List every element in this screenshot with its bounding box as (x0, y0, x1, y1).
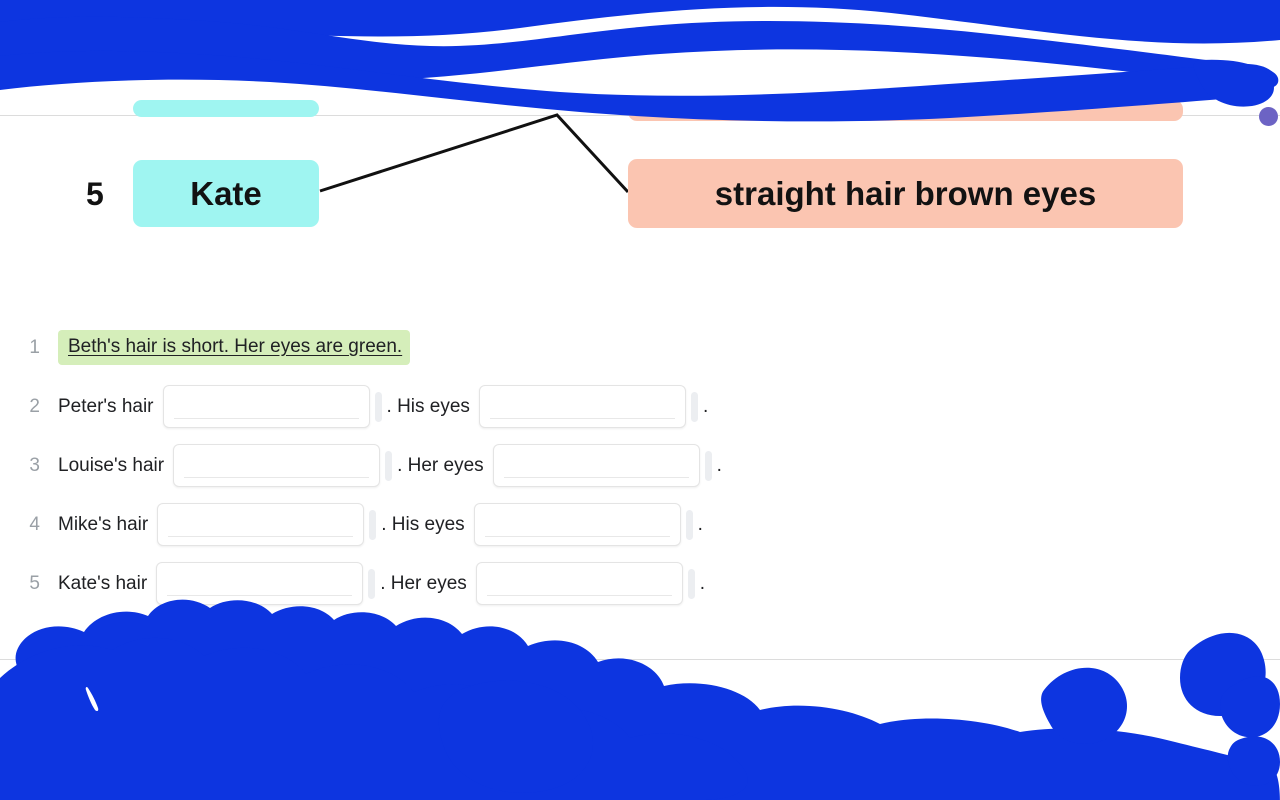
sentence-row-number: 2 (0, 397, 40, 416)
matching-chip-left-clipped[interactable] (133, 100, 319, 117)
sentence-mid-text: . His eyes (381, 515, 464, 534)
sentence-lead-text: Louise's hair (58, 456, 164, 475)
sentence-answer-highlight: Beth's hair is short. Her eyes are green… (58, 330, 410, 365)
matching-chip-right-clipped[interactable] (628, 100, 1183, 121)
hair-blank-input[interactable] (157, 563, 362, 604)
sentence-row: 3 Louise's hair . Her eyes . (0, 436, 1280, 495)
sentence-tail-text: . (717, 456, 722, 475)
resize-grip[interactable] (686, 510, 693, 540)
sentence-lead-text: Peter's hair (58, 397, 154, 416)
sentence-row-number: 5 (0, 574, 40, 593)
matching-chip-kate[interactable]: Kate (133, 160, 319, 227)
sentence-row: 4 Mike's hair . His eyes . (0, 495, 1280, 554)
resize-grip[interactable] (375, 392, 382, 422)
resize-grip[interactable] (688, 569, 695, 599)
matching-exercise: 5 Kate straight hair brown eyes (0, 100, 1280, 260)
sentence-row-number: 1 (0, 338, 40, 357)
eyes-blank-input[interactable] (475, 504, 680, 545)
matching-item-number: 5 (86, 178, 104, 210)
eyes-blank-input[interactable] (494, 445, 699, 486)
sentence-answer-text: Beth's hair is short. Her eyes are green… (68, 336, 402, 357)
sentence-lead-text: Kate's hair (58, 574, 147, 593)
sentence-row: 2 Peter's hair . His eyes . (0, 377, 1280, 436)
hair-blank-input[interactable] (158, 504, 363, 545)
sentence-exercise: 1 Beth's hair is short. Her eyes are gre… (0, 318, 1280, 613)
eyes-blank-input-wrapper[interactable] (479, 385, 686, 428)
hair-blank-input-wrapper[interactable] (157, 503, 364, 546)
resize-grip[interactable] (705, 451, 712, 481)
sentence-tail-text: . (698, 515, 703, 534)
resize-grip[interactable] (691, 392, 698, 422)
sentence-tail-text: . (703, 397, 708, 416)
eyes-blank-input-wrapper[interactable] (474, 503, 681, 546)
sentence-row-number: 4 (0, 515, 40, 534)
sentence-mid-text: . Her eyes (397, 456, 484, 475)
hair-blank-input-wrapper[interactable] (173, 444, 380, 487)
resize-grip[interactable] (369, 510, 376, 540)
sentence-row-number: 3 (0, 456, 40, 475)
sentence-lead-text: Mike's hair (58, 515, 148, 534)
resize-grip[interactable] (385, 451, 392, 481)
hair-blank-input-wrapper[interactable] (163, 385, 370, 428)
separator-rule-bottom (0, 659, 1280, 660)
eyes-blank-input-wrapper[interactable] (476, 562, 683, 605)
matching-chip-description[interactable]: straight hair brown eyes (628, 159, 1183, 228)
hair-blank-input-wrapper[interactable] (156, 562, 363, 605)
eyes-blank-input[interactable] (477, 563, 682, 604)
sentence-row: 1 Beth's hair is short. Her eyes are gre… (0, 318, 1280, 377)
eyes-blank-input-wrapper[interactable] (493, 444, 700, 487)
sentence-row: 5 Kate's hair . Her eyes . (0, 554, 1280, 613)
blue-brush-stroke-bottom (0, 600, 1280, 800)
sentence-tail-text: . (700, 574, 705, 593)
purple-drag-handle[interactable] (1259, 107, 1278, 126)
hair-blank-input[interactable] (174, 445, 379, 486)
worksheet-page: 5 Kate straight hair brown eyes 1 Beth's… (0, 0, 1280, 800)
resize-grip[interactable] (368, 569, 375, 599)
eyes-blank-input[interactable] (480, 386, 685, 427)
sentence-mid-text: . Her eyes (380, 574, 467, 593)
matching-chip-description-label: straight hair brown eyes (715, 177, 1096, 210)
sentence-mid-text: . His eyes (387, 397, 470, 416)
hair-blank-input[interactable] (164, 386, 369, 427)
matching-chip-kate-label: Kate (190, 177, 262, 210)
